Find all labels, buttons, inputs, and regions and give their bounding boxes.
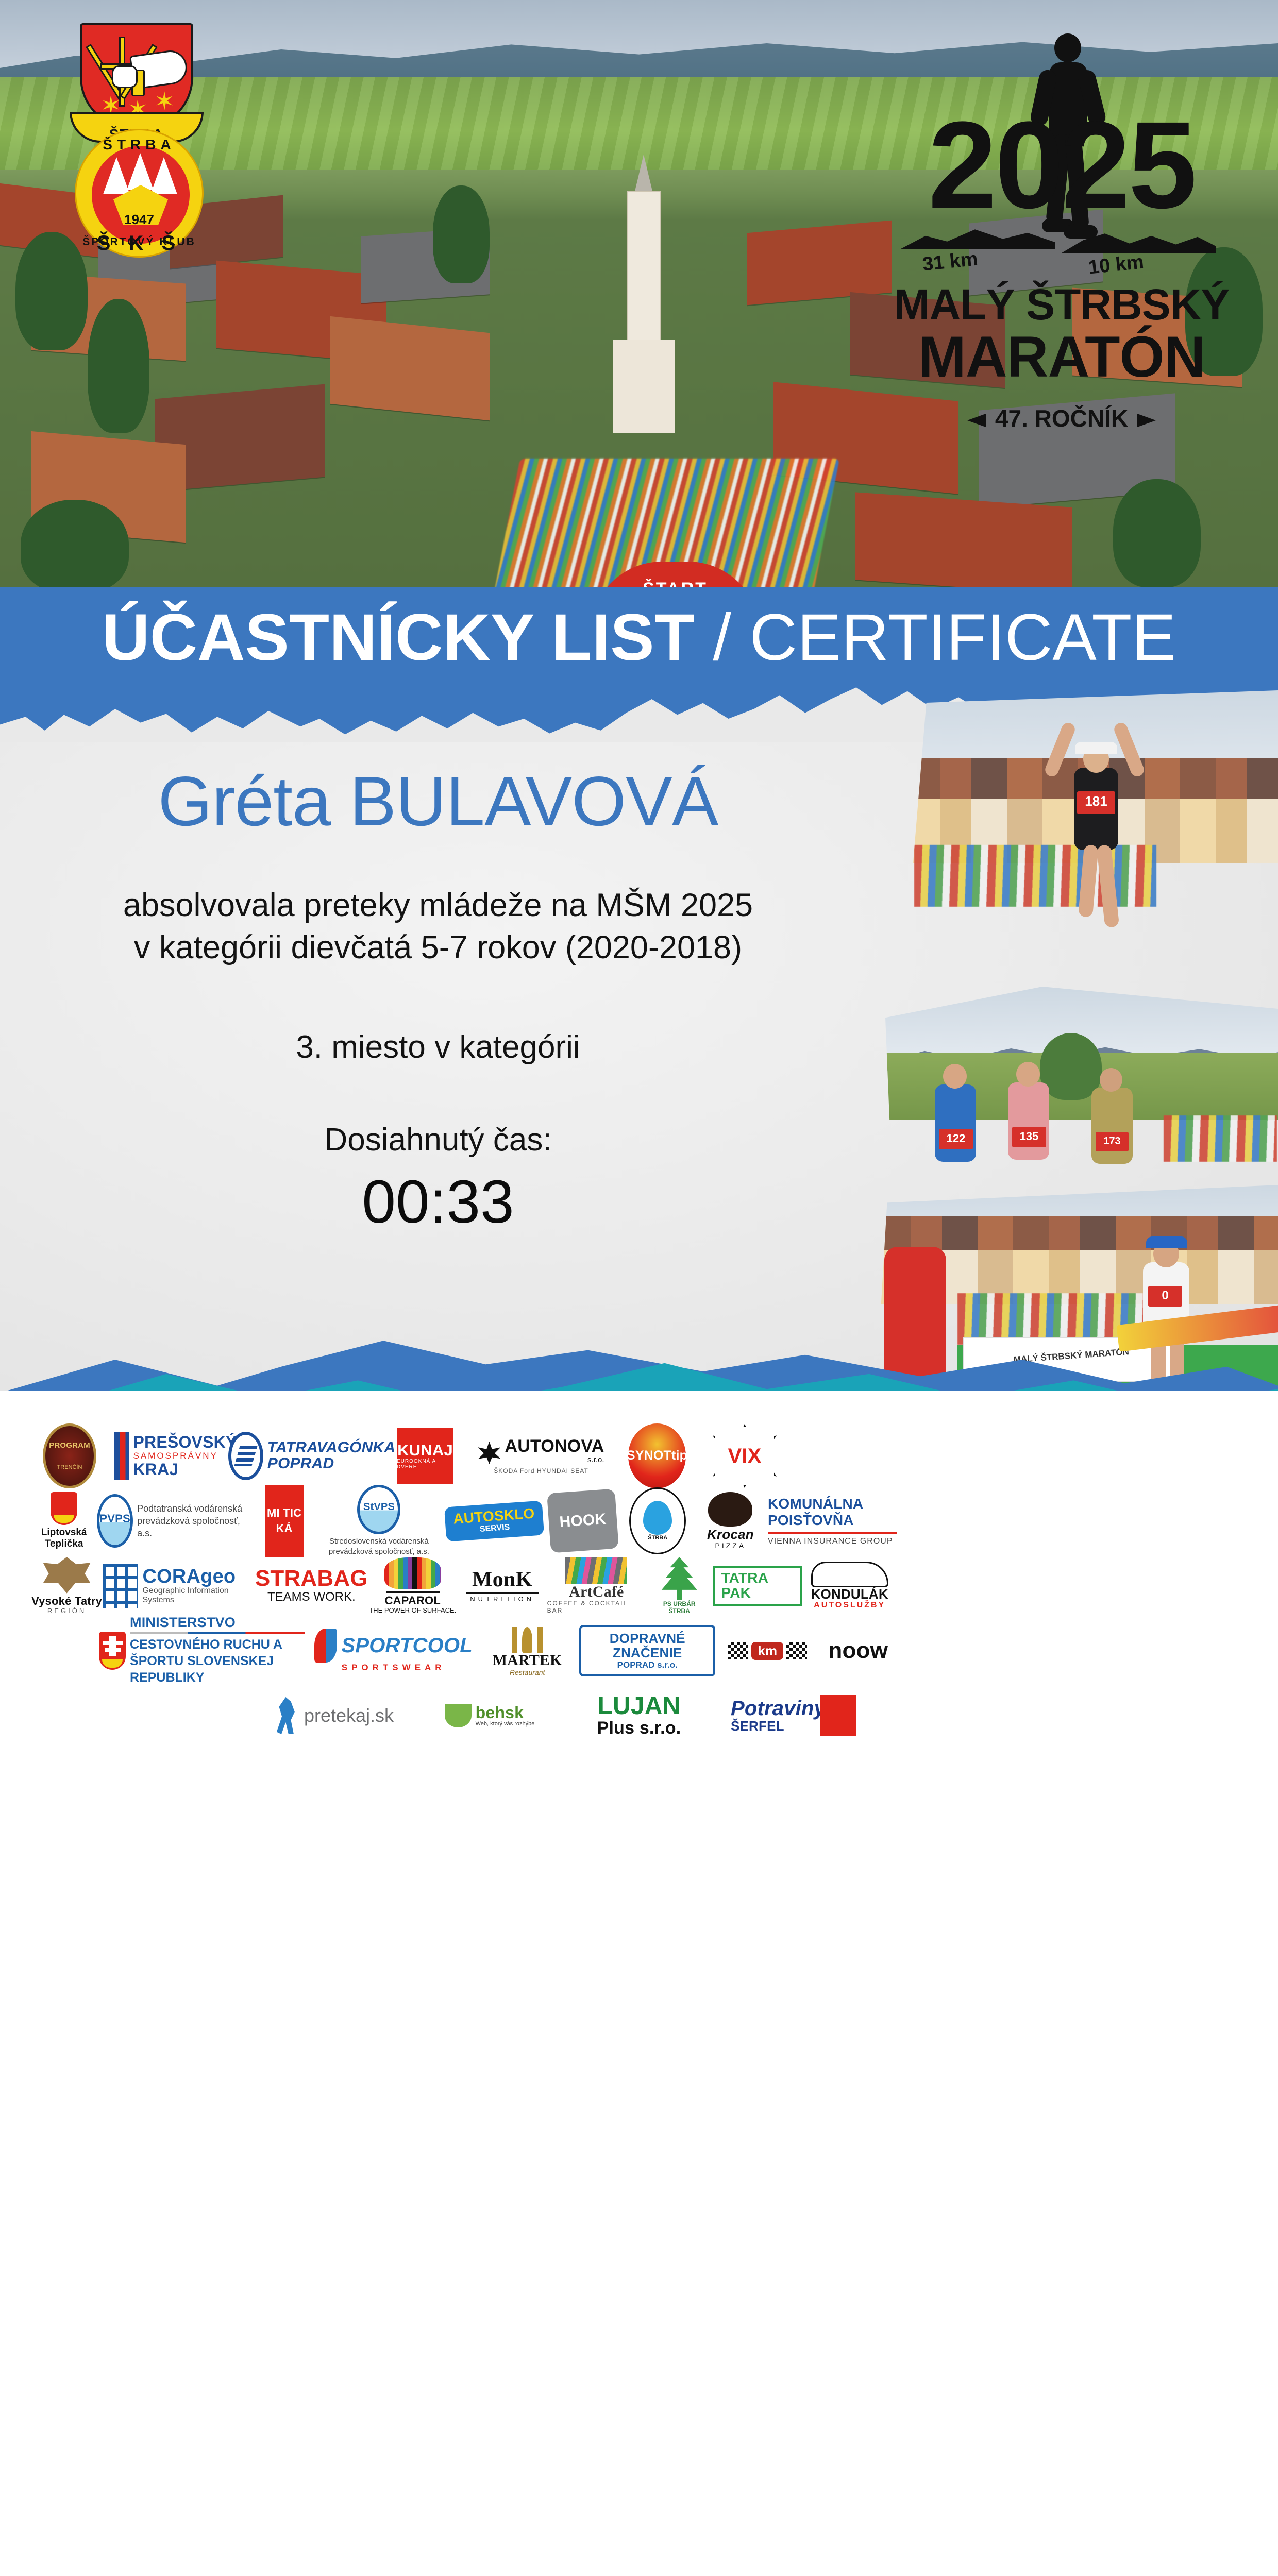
participant-name: Gréta BULAVOVÁ: [0, 762, 876, 840]
sponsor-caparol: CAPAROL THE POWER OF SURFACE.: [368, 1557, 458, 1615]
sports-club-abbrev: Š K Š: [95, 232, 183, 268]
sponsor-hook: HOOK: [543, 1492, 623, 1550]
club-top-label: ŠTRBA: [76, 137, 202, 153]
sponsor-stvps: StVPS Stredoslovenská vodárenská prevádz…: [313, 1492, 445, 1550]
sponsor-vysoke-tatry: Vysoké Tatry REGIÓN: [31, 1557, 103, 1615]
sponsor-tatrapak: TATRA PAK: [713, 1557, 802, 1615]
sponsor-row-3: Vysoké Tatry REGIÓN CORAgeo Geographic I…: [31, 1557, 897, 1615]
sponsor-liptovska-teplicka: Liptovská Teplička: [31, 1492, 97, 1550]
church-building: [613, 170, 675, 428]
sponsor-grid: PROGRAM TRENČÍN PREŠOVSKÝ SAMOSPRÁVNY KR…: [31, 1427, 897, 1752]
sponsor-row-2: Liptovská Teplička PVPS Podtatranská vod…: [31, 1492, 897, 1550]
sponsor-pretekaj-sk: pretekaj.sk: [258, 1687, 412, 1744]
sponsor-program-trencin: PROGRAM TRENČÍN: [31, 1427, 108, 1485]
distance-short-label: 10 km: [1087, 251, 1145, 279]
sponsor-row-1: PROGRAM TRENČÍN PREŠOVSKÝ SAMOSPRÁVNY KR…: [31, 1427, 897, 1485]
sponsor-footer: PROGRAM TRENČÍN PREŠOVSKÝ SAMOSPRÁVNY KR…: [0, 1391, 1278, 1807]
sponsor-potraviny-serfel: Potraviny ŠERFEL: [711, 1687, 876, 1744]
trail-bib-number-1: 122: [939, 1129, 973, 1149]
time-value: 00:33: [0, 1168, 876, 1235]
photo-trail-runners: 122 135 173: [885, 987, 1278, 1208]
sponsor-kunaj: KUNAJ EUROOKNÁ A DVERE: [381, 1427, 469, 1485]
description-line-1: absolvovala preteky mládeže na MŠM 2025: [0, 884, 876, 926]
photo-finisher-celebrating: 181: [904, 690, 1278, 999]
marathon-year: 2025: [892, 106, 1232, 224]
club-year: 1947: [76, 212, 202, 228]
sponsor-row-5: pretekaj.sk behsk Web, ktorý vás rozhýbe…: [258, 1687, 897, 1744]
finisher-bib-number: 181: [1077, 791, 1115, 814]
sponsor-artcafe: ArtCafé COFFEE & COCKTAIL BAR: [547, 1557, 646, 1615]
sponsor-kondulak: KONDULÁK AUTOSLUŽBY: [802, 1557, 897, 1615]
marathon-title-line2: MARATÓN: [892, 328, 1232, 386]
sponsor-km-motocentrum: km: [715, 1622, 819, 1680]
title-separator: /: [695, 601, 750, 674]
sponsor-presovsky-kraj: PREŠOVSKÝ SAMOSPRÁVNY KRAJ: [108, 1427, 242, 1485]
sponsor-dopravne-znacenie: DOPRAVNÉ ZNAČENIE POPRAD s.r.o.: [579, 1622, 715, 1680]
sponsor-synottip: SYNOTtip: [613, 1427, 701, 1485]
sponsor-strabag: STRABAG TEAMS WORK.: [255, 1557, 368, 1615]
trail-bib-number-2: 135: [1012, 1127, 1046, 1147]
distance-long-label: 31 km: [921, 248, 979, 276]
sponsor-krocan-pizza: Krocan PIZZA: [693, 1492, 768, 1550]
sponsor-lujan-plus: LUJAN Plus s.r.o.: [567, 1687, 711, 1744]
sponsor-beh-sk: behsk Web, ktorý vás rozhýbe: [412, 1687, 567, 1744]
sponsor-autosklo-servis: AUTOSKLO SERVIS: [445, 1492, 543, 1550]
sponsor-ps-urbar-strba: PS URBÁR ŠTRBA: [646, 1557, 713, 1615]
sponsor-martek: MARTEK Restaurant: [475, 1622, 579, 1680]
time-label: Dosiahnutý čas:: [0, 1122, 876, 1158]
sponsor-ministerstvo: MINISTERSTVO CESTOVNÉHO RUCHU A ŠPORTU S…: [99, 1622, 312, 1680]
sponsor-pd-strba: ŠTRBA: [623, 1492, 693, 1550]
title-english: CERTIFICATE: [750, 601, 1176, 674]
marathon-title: MALÝ ŠTRBSKÝ MARATÓN: [892, 281, 1232, 386]
sponsor-autonova: AUTONOVA s.r.o. ŠKODA Ford HYUNDAI SEAT: [469, 1427, 613, 1485]
marathon-logo: 2025 31 km 10 km MALÝ ŠTRBSKÝ MARATÓN 47…: [892, 28, 1232, 471]
trail-bib-number-3: 173: [1096, 1132, 1129, 1151]
description-line-2: v kategórii dievčatá 5-7 rokov (2020-201…: [0, 926, 876, 969]
sponsor-monk-nutrition: MonK NUTRITION: [458, 1557, 547, 1615]
sponsor-row-4: MINISTERSTVO CESTOVNÉHO RUCHU A ŠPORTU S…: [31, 1622, 897, 1680]
autonova-brands: ŠKODA Ford HYUNDAI SEAT: [494, 1467, 588, 1475]
sponsor-tatravagonka: TATRAVAGÓNKA POPRAD: [242, 1427, 381, 1485]
marathon-title-line1: MALÝ ŠTRBSKÝ: [894, 280, 1230, 329]
winner-bib-number: 0: [1148, 1286, 1182, 1307]
distance-badges: 31 km 10 km: [892, 224, 1232, 286]
certificate-description: absolvovala preteky mládeže na MŠM 2025 …: [0, 884, 876, 969]
certificate-content: Gréta BULAVOVÁ absolvovala preteky mláde…: [0, 762, 876, 1235]
sponsor-noow: noow: [819, 1622, 897, 1680]
sponsor-sportcool: SPORTCOOL SPORTSWEAR: [312, 1622, 475, 1680]
sponsor-spacer: [31, 1622, 99, 1680]
sponsor-komunalna-poistovna: KOMUNÁLNA POISŤOVŇA VIENNA INSURANCE GRO…: [768, 1492, 897, 1550]
marathon-edition: 47. ROČNÍK: [892, 404, 1232, 432]
sponsor-pvps: PVPS Podtatranská vodárenská prevádzková…: [97, 1492, 256, 1550]
sponsor-vix: VIX: [701, 1427, 788, 1485]
sponsor-corageo: CORAgeo Geographic Information Systems: [103, 1557, 255, 1615]
photo-collage: 181 122 135 173 MALÝ ŠTRBSKÝ MARATÓN 0: [866, 690, 1278, 1391]
placement-text: 3. miesto v kategórii: [0, 1029, 876, 1065]
sponsor-miticka: MI TIC KÁ: [256, 1492, 313, 1550]
hero-photo-aerial-village: ŠTART ✶ ✶ ✶ ŠTRBA ŠTRBA 1947 ŠPORTOVÝ KL…: [0, 0, 1278, 587]
title-slovak: ÚČASTNÍCKY LIST: [102, 601, 695, 674]
